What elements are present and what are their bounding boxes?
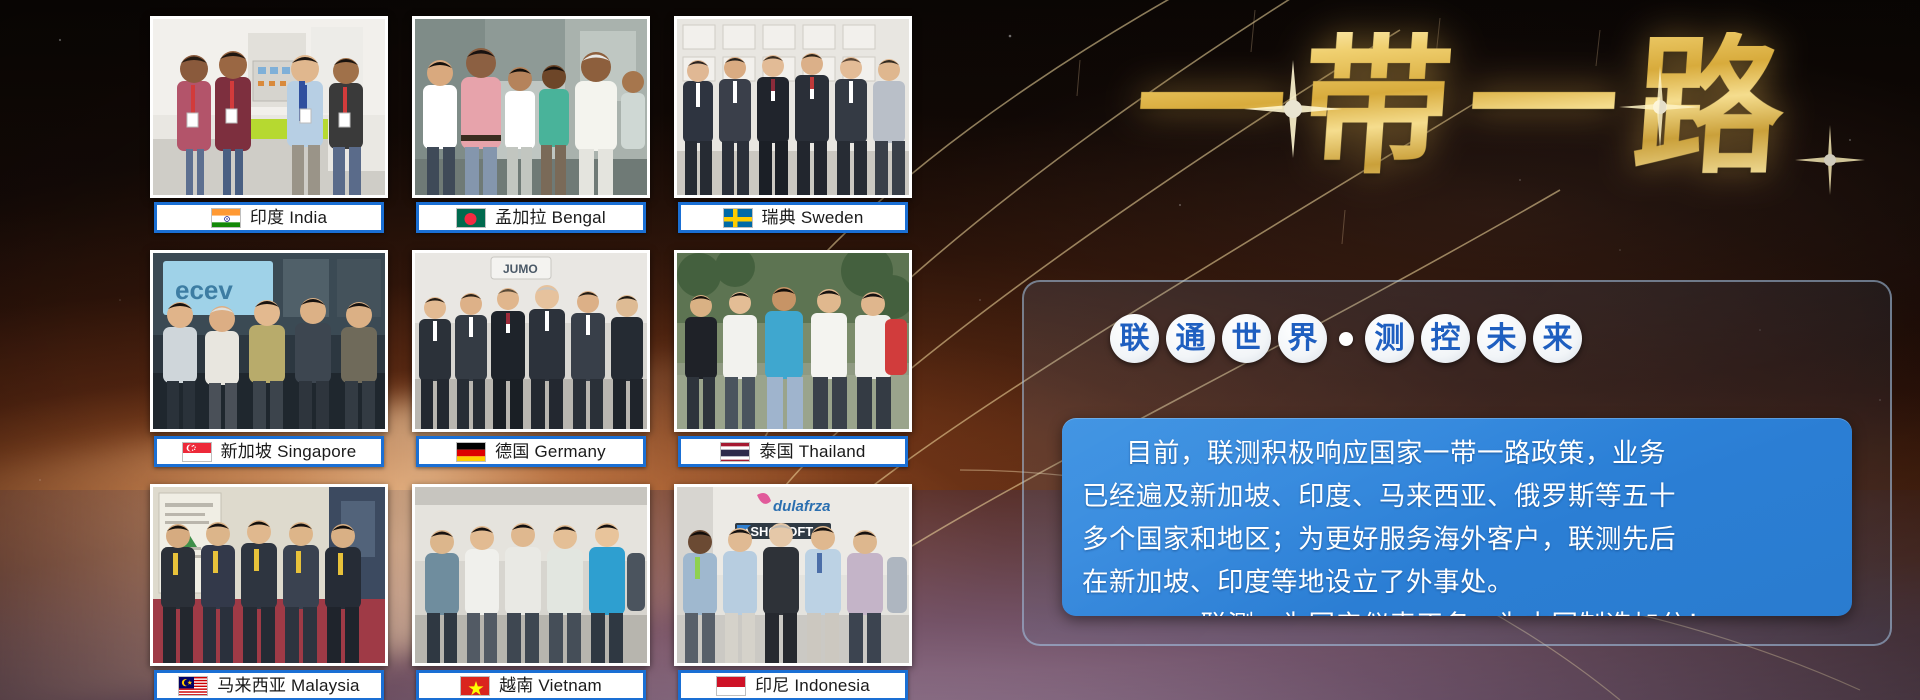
photo-label-text: 越南 Vietnam <box>499 677 602 694</box>
photo-card[interactable]: 马来西亚 Malaysia <box>150 484 388 700</box>
photo-label: 泰国 Thailand <box>678 436 908 467</box>
photo-india <box>153 19 385 195</box>
photo-thailand <box>677 253 909 429</box>
photo-label: 马来西亚 Malaysia <box>154 670 384 700</box>
slogan-char: 通 <box>1166 314 1215 363</box>
flag-sweden-icon <box>723 208 753 228</box>
flag-singapore-icon <box>182 442 212 462</box>
svg-text:JUMO: JUMO <box>503 262 538 276</box>
slogan-char: 测 <box>1365 314 1414 363</box>
sparkle-icon <box>1792 122 1868 198</box>
description-line: 目前，联测积极响应国家一带一路政策，业务 <box>1082 432 1832 475</box>
description-box: 目前，联测积极响应国家一带一路政策，业务 已经遍及新加坡、印度、马来西亚、俄罗斯… <box>1062 418 1852 616</box>
photo-frame <box>150 484 388 666</box>
photo-label-text: 印尼 Indonesia <box>755 677 870 694</box>
photo-frame <box>412 16 650 198</box>
photo-label: 德国 Germany <box>416 436 646 467</box>
photo-card[interactable]: 孟加拉 Bengal <box>412 16 650 238</box>
photo-card[interactable]: 印度 India <box>150 16 388 238</box>
description-line: 联测，为国产仪表正名，为中国制造加分！ <box>1082 604 1832 616</box>
description-line: 已经遍及新加坡、印度、马来西亚、俄罗斯等五十 <box>1082 475 1832 518</box>
photo-frame: dulafrza ASHCROFT <box>674 484 912 666</box>
photo-bengal <box>415 19 647 195</box>
photo-frame: ecev <box>150 250 388 432</box>
photo-label: 印尼 Indonesia <box>678 670 908 700</box>
slogan-char: 未 <box>1477 314 1526 363</box>
photo-label: 瑞典 Sweden <box>678 202 908 233</box>
slogan-char: 控 <box>1421 314 1470 363</box>
svg-text:ecev: ecev <box>175 275 233 305</box>
flag-germany-icon <box>456 442 486 462</box>
photo-label-text: 德国 Germany <box>495 443 606 460</box>
photo-frame <box>674 16 912 198</box>
photo-frame <box>674 250 912 432</box>
photo-label: 印度 India <box>154 202 384 233</box>
slogan-separator-dot <box>1339 332 1353 346</box>
flag-vietnam-icon <box>460 676 490 696</box>
slogan-char: 世 <box>1222 314 1271 363</box>
svg-text:dulafrza: dulafrza <box>773 498 831 515</box>
photo-label-text: 印度 India <box>250 209 327 226</box>
photo-label-text: 新加坡 Singapore <box>221 443 357 460</box>
slogan-row: 联 通 世 界 测 控 未 来 <box>1110 314 1582 363</box>
photo-label-text: 孟加拉 Bengal <box>495 209 606 226</box>
flag-thailand-icon <box>720 442 750 462</box>
country-photo-grid: 印度 India <box>150 16 912 700</box>
slogan-char: 联 <box>1110 314 1159 363</box>
belt-and-road-banner: 一带一路 <box>0 0 1920 700</box>
photo-card[interactable]: 瑞典 Sweden <box>674 16 912 238</box>
photo-card[interactable]: dulafrza ASHCROFT <box>674 484 912 700</box>
photo-label-text: 马来西亚 Malaysia <box>217 677 359 694</box>
flag-india-icon <box>211 208 241 228</box>
photo-vietnam <box>415 487 647 663</box>
flag-malaysia-icon <box>178 676 208 696</box>
photo-frame <box>412 484 650 666</box>
description-line: 在新加坡、印度等地设立了外事处。 <box>1082 561 1832 604</box>
photo-germany: JUMO <box>415 253 647 429</box>
photo-indonesia: dulafrza ASHCROFT <box>677 487 909 663</box>
photo-label-text: 瑞典 Sweden <box>762 209 864 226</box>
photo-card[interactable]: 越南 Vietnam <box>412 484 650 700</box>
slogan-char: 界 <box>1278 314 1327 363</box>
photo-card[interactable]: JUMO <box>412 250 650 472</box>
photo-singapore: ecev <box>153 253 385 429</box>
photo-label: 新加坡 Singapore <box>154 436 384 467</box>
flag-bangladesh-icon <box>456 208 486 228</box>
description-line: 多个国家和地区；为更好服务海外客户，联测先后 <box>1082 518 1832 561</box>
photo-malaysia <box>153 487 385 663</box>
photo-card[interactable]: ecev <box>150 250 388 472</box>
photo-frame: JUMO <box>412 250 650 432</box>
photo-label: 孟加拉 Bengal <box>416 202 646 233</box>
photo-label-text: 泰国 Thailand <box>759 443 865 460</box>
photo-label: 越南 Vietnam <box>416 670 646 700</box>
gold-title-text: 一带一路 <box>1115 32 1806 182</box>
photo-sweden <box>677 19 909 195</box>
slogan-char: 来 <box>1533 314 1582 363</box>
gold-calligraphy-title: 一带一路 <box>1020 2 1900 212</box>
photo-card[interactable]: 泰国 Thailand <box>674 250 912 472</box>
flag-indonesia-icon <box>716 676 746 696</box>
photo-frame <box>150 16 388 198</box>
